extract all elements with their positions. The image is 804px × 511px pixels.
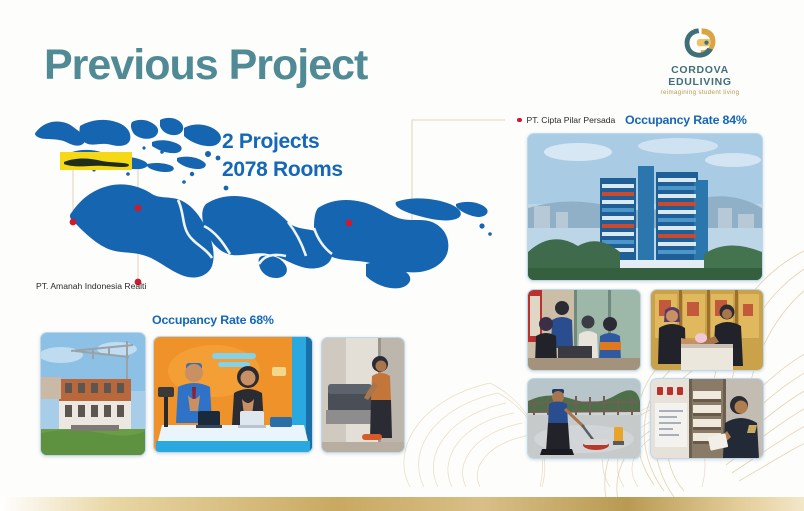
photo-lobby-group[interactable] <box>527 289 641 371</box>
map-java-detail <box>66 160 496 300</box>
logo-name: CORDOVA EDULIVING <box>638 64 762 88</box>
brand-logo: CORDOVA EDULIVING reimagining student li… <box>638 26 762 96</box>
occupancy-rate-amanah: Occupancy Rate 68% <box>152 313 274 327</box>
page-title: Previous Project <box>44 44 367 87</box>
occupancy-rate-cipta: Occupancy Rate 84% <box>625 113 747 127</box>
leaf-swoosh-icon <box>682 26 718 60</box>
gold-footer-bar <box>0 497 804 511</box>
bullet-dot-icon <box>517 118 522 123</box>
photo-apartment-towers[interactable] <box>527 133 763 281</box>
photo-construction-site[interactable] <box>40 332 146 456</box>
company-name-cipta: PT. Cipta Pilar Persada <box>527 115 616 125</box>
photo-inventory-check[interactable] <box>650 378 764 459</box>
company-label-cipta: PT. Cipta Pilar Persada <box>517 115 615 125</box>
photo-room-interior[interactable] <box>321 337 405 453</box>
company-label-amanah: PT. Amanah Indonesia Realti <box>36 281 146 291</box>
photo-reception-staff[interactable] <box>153 336 313 453</box>
logo-tagline: reimagining student living <box>638 89 762 96</box>
photo-floor-cleaning[interactable] <box>527 378 641 459</box>
slide-canvas: Previous Project CORDOVA EDULIVING reima… <box>0 0 804 511</box>
photo-front-desk-handover[interactable] <box>650 289 764 371</box>
stat-projects: 2 Projects <box>222 128 343 156</box>
